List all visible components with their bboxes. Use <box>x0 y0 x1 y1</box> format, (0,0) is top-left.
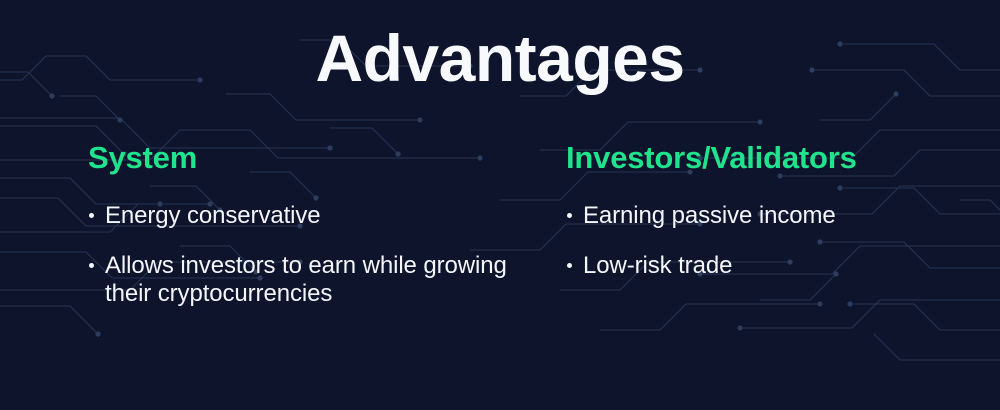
advantages-slide: Advantages System Energy conservative Al… <box>0 0 1000 410</box>
list-item-text: Low-risk trade <box>583 252 732 279</box>
column-heading-system: System <box>88 140 528 176</box>
list-item: Low-risk trade <box>566 252 966 280</box>
column-investors-validators: Investors/Validators Earning passive inc… <box>566 140 966 280</box>
bullet-dot-icon <box>567 213 572 218</box>
column-system: System Energy conservative Allows invest… <box>88 140 528 309</box>
column-heading-investors-validators: Investors/Validators <box>566 140 966 176</box>
list-item-text: Allows investors to earn while growing t… <box>105 252 507 307</box>
bullet-list-system: Energy conservative Allows investors to … <box>88 202 528 309</box>
bullet-dot-icon <box>89 213 94 218</box>
list-item-text: Energy conservative <box>105 202 321 229</box>
list-item: Energy conservative <box>88 202 528 230</box>
bullet-dot-icon <box>89 263 94 268</box>
page-title: Advantages <box>0 24 1000 93</box>
list-item-text: Earning passive income <box>583 202 836 229</box>
slide-content: Advantages System Energy conservative Al… <box>0 0 1000 410</box>
bullet-list-investors-validators: Earning passive income Low-risk trade <box>566 202 966 281</box>
list-item: Allows investors to earn while growing t… <box>88 252 528 309</box>
list-item: Earning passive income <box>566 202 966 230</box>
bullet-dot-icon <box>567 263 572 268</box>
